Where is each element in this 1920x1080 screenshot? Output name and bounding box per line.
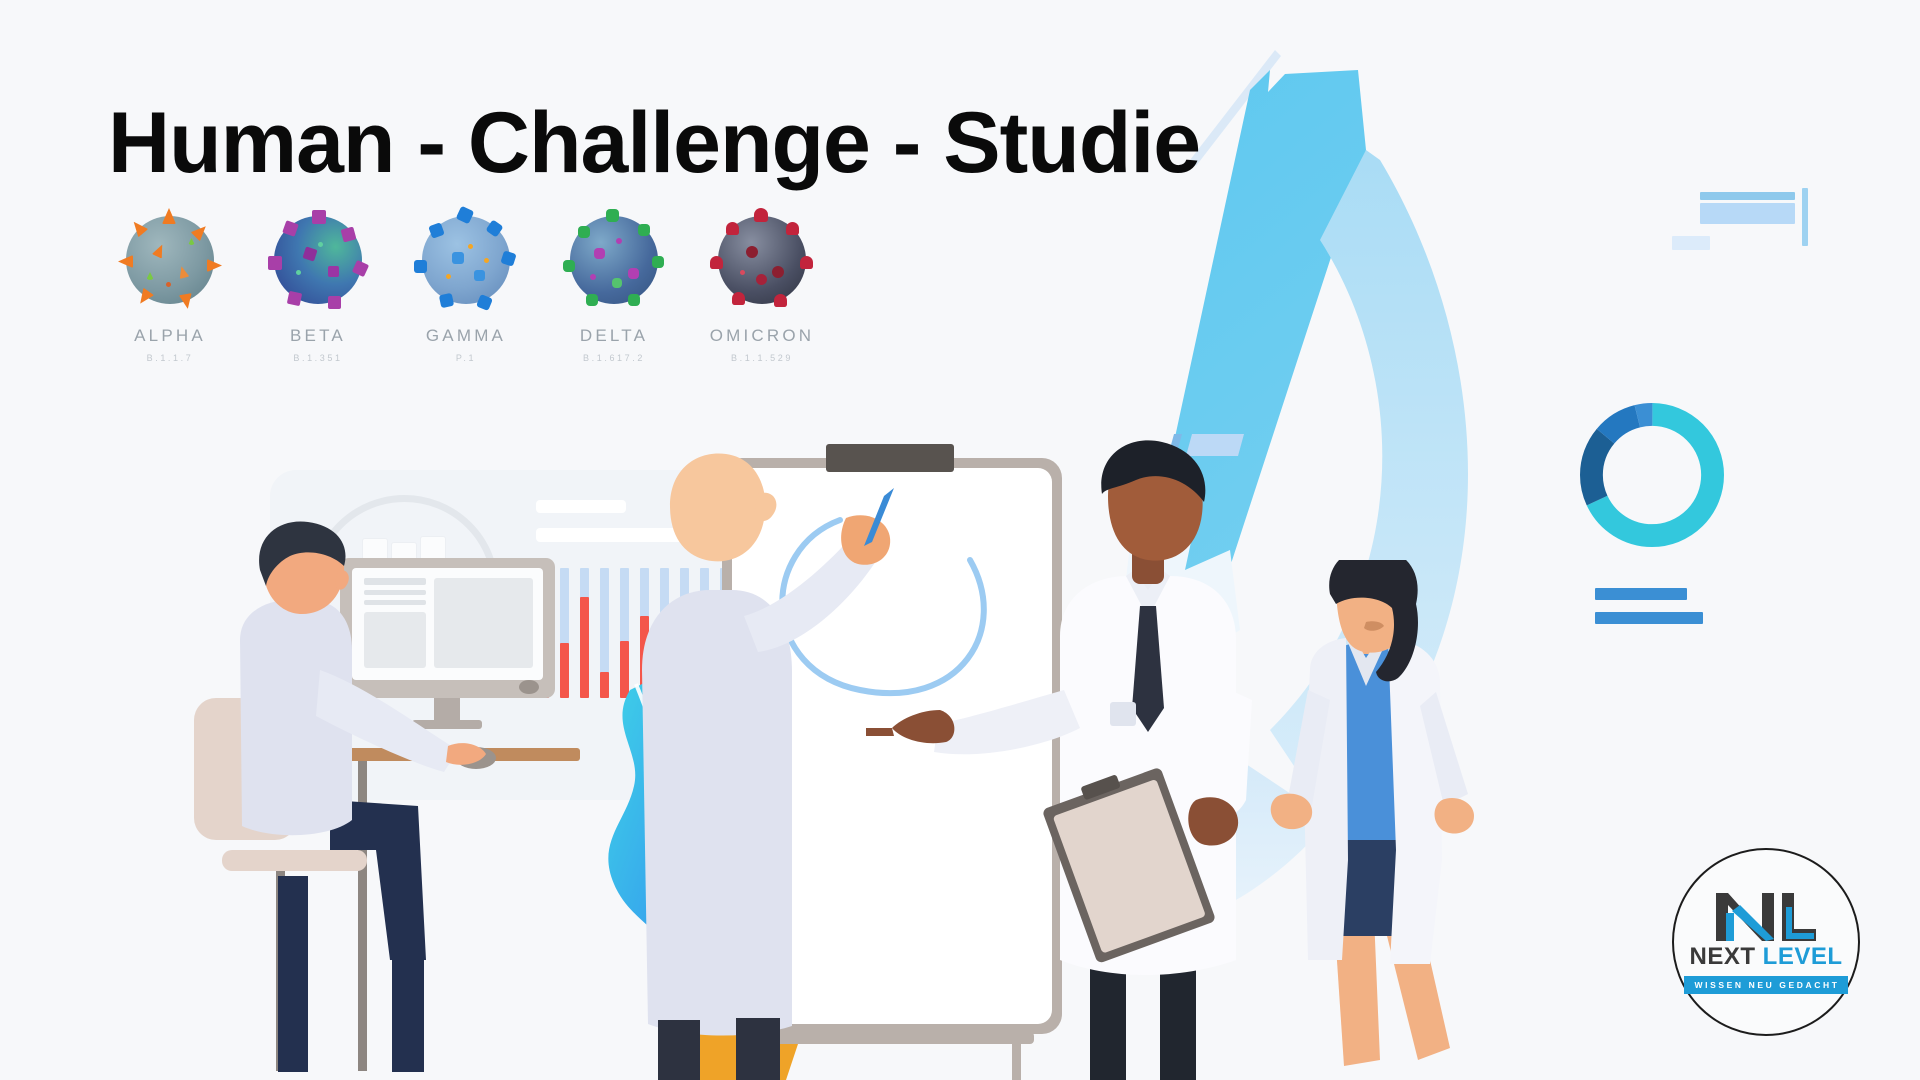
- donut-legend: [1595, 588, 1703, 636]
- virus-icon-gamma: [414, 208, 518, 312]
- virus-icon-delta: [562, 208, 666, 312]
- nl-monogram-icon: [1712, 891, 1820, 941]
- legend-bar-2: [1595, 612, 1703, 624]
- variant-code: B.1.1.529: [731, 353, 793, 363]
- deco-bar-3: [1802, 188, 1808, 246]
- deco-bar-4: [1672, 236, 1710, 250]
- logo-word-next: NEXT: [1689, 943, 1755, 970]
- virus-icon-beta: [266, 208, 370, 312]
- logo-wordmark: NEXT LEVEL: [1689, 945, 1842, 969]
- variant-card-gamma: GAMMA P.1: [406, 208, 526, 363]
- deco-bar-1: [1700, 192, 1795, 200]
- variant-name: BETA: [290, 326, 346, 346]
- logo-word-level: LEVEL: [1763, 943, 1843, 970]
- virus-icon-alpha: [118, 208, 222, 312]
- walking-female-researcher: [1270, 560, 1530, 1080]
- legend-bar-1: [1595, 588, 1687, 600]
- variant-name: GAMMA: [426, 326, 506, 346]
- variant-name: OMICRON: [710, 326, 815, 346]
- variant-code: B.1.617.2: [583, 353, 645, 363]
- standing-researchers-group: [640, 440, 1340, 1080]
- variant-card-alpha: ALPHA B.1.1.7: [110, 208, 230, 363]
- variant-code: B.1.351: [293, 353, 342, 363]
- next-level-logo: NEXT LEVEL WISSEN NEU GEDACHT: [1672, 848, 1860, 1036]
- decorative-bars-top-right: [1700, 192, 1810, 250]
- variant-name: ALPHA: [134, 326, 206, 346]
- variant-code: P.1: [456, 353, 476, 363]
- page-title: Human - Challenge - Studie: [108, 100, 1200, 186]
- seated-researcher-at-computer: [180, 520, 610, 1080]
- variant-card-delta: DELTA B.1.617.2: [554, 208, 674, 363]
- poster-canvas: Human - Challenge - Studie ALPHA B.1.1.: [0, 0, 1920, 1080]
- variant-card-beta: BETA B.1.351: [258, 208, 378, 363]
- variant-strip: ALPHA B.1.1.7 BETA B.1.351: [110, 208, 822, 363]
- deco-bar-2: [1700, 203, 1795, 224]
- paper-sheet-1: [536, 500, 626, 513]
- variant-name: DELTA: [580, 326, 648, 346]
- variant-code: B.1.1.7: [147, 353, 194, 363]
- donut-chart: [1572, 395, 1732, 555]
- virus-icon-omicron: [710, 208, 814, 312]
- variant-card-omicron: OMICRON B.1.1.529: [702, 208, 822, 363]
- logo-tagline: WISSEN NEU GEDACHT: [1684, 976, 1847, 994]
